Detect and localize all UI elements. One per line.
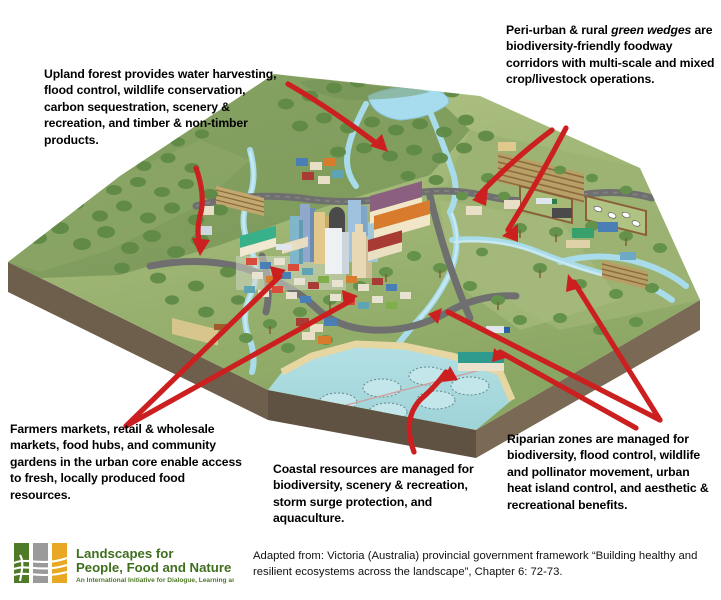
infographic-root: Upland forest provides water harvesting,…: [0, 0, 721, 600]
callout-green-wedges-emphasis: green wedges: [611, 23, 691, 37]
footer: Landscapes for People, Food and Nature A…: [0, 533, 721, 600]
callout-urban-markets: Farmers markets, retail & wholesale mark…: [10, 421, 246, 503]
lpfn-logo: Landscapes for People, Food and Nature A…: [12, 541, 234, 589]
logo-tagline: An International Initiative for Dialogue…: [76, 577, 234, 584]
callout-riparian: Riparian zones are managed for biodivers…: [507, 431, 713, 513]
callout-green-wedges-pre: Peri-urban & rural: [506, 23, 611, 37]
logo-line1: Landscapes for: [76, 546, 173, 561]
source-credit: Adapted from: Victoria (Australia) provi…: [253, 548, 715, 580]
callout-green-wedges: Peri-urban & rural green wedges are biod…: [506, 22, 716, 88]
callout-coastal: Coastal resources are managed for biodiv…: [273, 461, 489, 527]
logo-mark: [14, 543, 67, 583]
logo-line2: People, Food and Nature: [76, 560, 231, 575]
callout-upland-forest: Upland forest provides water harvesting,…: [44, 66, 284, 148]
